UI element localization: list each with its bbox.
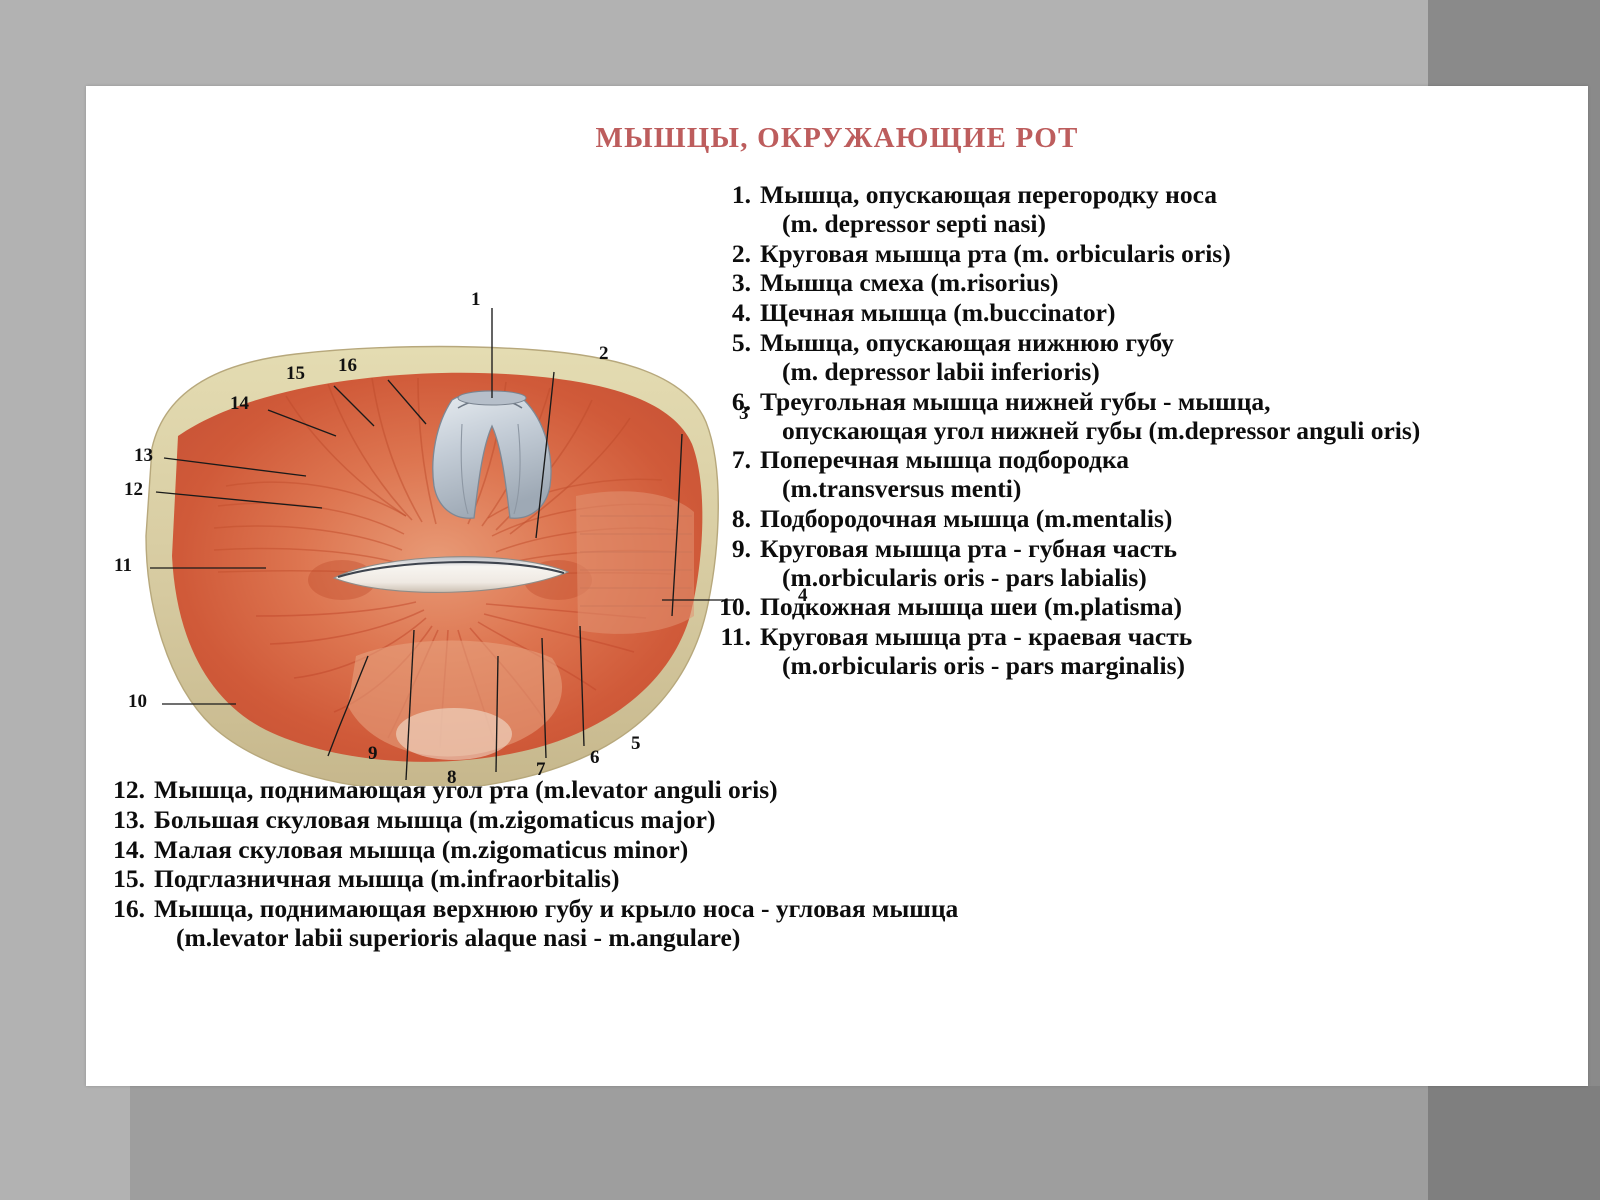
legend-item-line1: Круговая мышца рта (m. orbicularis oris) xyxy=(760,239,1231,268)
callout-11: 11 xyxy=(114,556,132,575)
legend-item-14: 14. Малая скуловая мышца (m.zigomaticus … xyxy=(96,836,1576,865)
legend-item-line2: опускающая угол нижней губы (m.depressor… xyxy=(760,417,1576,446)
legend-item-5: 5. Мышца, опускающая нижнюю губу (m. dep… xyxy=(706,329,1576,387)
legend-item-text: Мышца, поднимающая угол рта (m.levator a… xyxy=(154,776,1576,805)
legend-item-number: 9. xyxy=(706,535,760,564)
legend-item-text: Круговая мышца рта - краевая часть (m.or… xyxy=(760,623,1576,681)
legend-item-12: 12. Мышца, поднимающая угол рта (m.levat… xyxy=(96,776,1576,805)
legend-item-line2: (m.transversus menti) xyxy=(760,475,1576,504)
callout-13: 13 xyxy=(134,446,153,465)
legend-item-line1: Круговая мышца рта - краевая часть xyxy=(760,622,1192,651)
legend-item-line2: (m.orbicularis oris - pars marginalis) xyxy=(760,652,1576,681)
legend-item-1: 1. Мышца, опускающая перегородку носа (m… xyxy=(706,181,1576,239)
legend-item-number: 13. xyxy=(96,806,154,835)
legend-item-text: Треугольная мышца нижней губы - мышца, о… xyxy=(760,388,1576,446)
legend-item-number: 14. xyxy=(96,836,154,865)
legend-item-line1: Подбородочная мышца (m.mentalis) xyxy=(760,504,1172,533)
legend-item-line1: Круговая мышца рта - губная часть xyxy=(760,534,1177,563)
legend-item-9: 9. Круговая мышца рта - губная часть (m.… xyxy=(706,535,1576,593)
legend-item-line1: Подкожная мышца шеи (m.platisma) xyxy=(760,592,1182,621)
legend-item-line1: Мышца, опускающая перегородку носа xyxy=(760,180,1217,209)
legend-list-bottom: 12. Мышца, поднимающая угол рта (m.levat… xyxy=(96,776,1576,954)
callout-9: 9 xyxy=(368,744,378,763)
callout-2: 2 xyxy=(599,344,609,363)
slide-surface: МЫШЦЫ, ОКРУЖАЮЩИЕ РОТ xyxy=(86,86,1588,1086)
legend-item-text: Большая скуловая мышца (m.zigomaticus ma… xyxy=(154,806,1576,835)
legend-item-7: 7. Поперечная мышца подбородка (m.transv… xyxy=(706,446,1576,504)
legend-item-line1: Мышца, поднимающая угол рта (m.levator a… xyxy=(154,775,778,804)
legend-item-text: Поперечная мышца подбородка (m.transvers… xyxy=(760,446,1576,504)
callout-12: 12 xyxy=(124,480,143,499)
legend-item-line1: Треугольная мышца нижней губы - мышца, xyxy=(760,387,1271,416)
legend-item-text: Подглазничная мышца (m.infraorbitalis) xyxy=(154,865,1576,894)
legend-item-text: Мышца смеха (m.risorius) xyxy=(760,269,1576,298)
legend-item-line1: Мышца, опускающая нижнюю губу xyxy=(760,328,1174,357)
callout-5: 5 xyxy=(631,734,641,753)
legend-item-number: 5. xyxy=(706,329,760,358)
callout-16: 16 xyxy=(338,356,357,375)
legend-item-2: 2. Круговая мышца рта (m. orbicularis or… xyxy=(706,240,1576,269)
legend-item-text: Мышца, опускающая перегородку носа (m. d… xyxy=(760,181,1576,239)
background-band-corner xyxy=(1428,1086,1600,1200)
legend-item-number: 4. xyxy=(706,299,760,328)
legend-item-13: 13. Большая скуловая мышца (m.zigomaticu… xyxy=(96,806,1576,835)
legend-item-number: 11. xyxy=(706,623,760,652)
legend-item-number: 6. xyxy=(706,388,760,417)
legend-item-text: Малая скуловая мышца (m.zigomaticus mino… xyxy=(154,836,1576,865)
anatomy-illustration-svg xyxy=(106,186,746,786)
legend-item-line2: (m. depressor septi nasi) xyxy=(760,210,1576,239)
legend-item-8: 8. Подбородочная мышца (m.mentalis) xyxy=(706,505,1576,534)
page-title: МЫШЦЫ, ОКРУЖАЮЩИЕ РОТ xyxy=(86,122,1588,155)
callout-10: 10 xyxy=(128,692,147,711)
legend-item-line2: (m.levator labii superioris alaque nasi … xyxy=(154,924,1576,953)
legend-item-number: 7. xyxy=(706,446,760,475)
legend-item-text: Щечная мышца (m.buccinator) xyxy=(760,299,1576,328)
legend-item-line2: (m.orbicularis oris - pars labialis) xyxy=(760,564,1576,593)
legend-item-line1: Поперечная мышца подбородка xyxy=(760,445,1129,474)
legend-item-text: Круговая мышца рта (m. orbicularis oris) xyxy=(760,240,1576,269)
legend-item-number: 8. xyxy=(706,505,760,534)
legend-item-line1: Мышца, поднимающая верхнюю губу и крыло … xyxy=(154,894,958,923)
legend-item-number: 15. xyxy=(96,865,154,894)
legend-item-line1: Малая скуловая мышца (m.zigomaticus mino… xyxy=(154,835,688,864)
legend-item-text: Подкожная мышца шеи (m.platisma) xyxy=(760,593,1576,622)
anatomy-illustration: 1 2 3 4 5 6 7 8 9 10 11 12 13 14 15 16 xyxy=(106,186,746,786)
legend-item-16: 16. Мышца, поднимающая верхнюю губу и кр… xyxy=(96,895,1576,953)
legend-item-10: 10. Подкожная мышца шеи (m.platisma) xyxy=(706,593,1576,622)
background-band-bottom xyxy=(130,1086,1430,1200)
legend-item-number: 10. xyxy=(706,593,760,622)
legend-item-number: 1. xyxy=(706,181,760,210)
legend-item-number: 12. xyxy=(96,776,154,805)
callout-14: 14 xyxy=(230,394,249,413)
legend-item-6: 6. Треугольная мышца нижней губы - мышца… xyxy=(706,388,1576,446)
legend-item-text: Мышца, поднимающая верхнюю губу и крыло … xyxy=(154,895,1576,953)
legend-item-number: 16. xyxy=(96,895,154,924)
legend-item-3: 3. Мышца смеха (m.risorius) xyxy=(706,269,1576,298)
legend-item-number: 3. xyxy=(706,269,760,298)
legend-item-15: 15. Подглазничная мышца (m.infraorbitali… xyxy=(96,865,1576,894)
legend-list-right: 1. Мышца, опускающая перегородку носа (m… xyxy=(706,181,1576,682)
legend-item-line2: (m. depressor labii inferioris) xyxy=(760,358,1576,387)
legend-item-11: 11. Круговая мышца рта - краевая часть (… xyxy=(706,623,1576,681)
callout-1: 1 xyxy=(471,290,481,309)
legend-item-line1: Подглазничная мышца (m.infraorbitalis) xyxy=(154,864,619,893)
legend-item-text: Круговая мышца рта - губная часть (m.orb… xyxy=(760,535,1576,593)
legend-item-text: Подбородочная мышца (m.mentalis) xyxy=(760,505,1576,534)
callout-6: 6 xyxy=(590,748,600,767)
legend-item-4: 4. Щечная мышца (m.buccinator) xyxy=(706,299,1576,328)
legend-item-number: 2. xyxy=(706,240,760,269)
legend-item-line1: Щечная мышца (m.buccinator) xyxy=(760,298,1115,327)
legend-item-line1: Большая скуловая мышца (m.zigomaticus ma… xyxy=(154,805,715,834)
legend-item-line1: Мышца смеха (m.risorius) xyxy=(760,268,1059,297)
callout-15: 15 xyxy=(286,364,305,383)
legend-item-text: Мышца, опускающая нижнюю губу (m. depres… xyxy=(760,329,1576,387)
